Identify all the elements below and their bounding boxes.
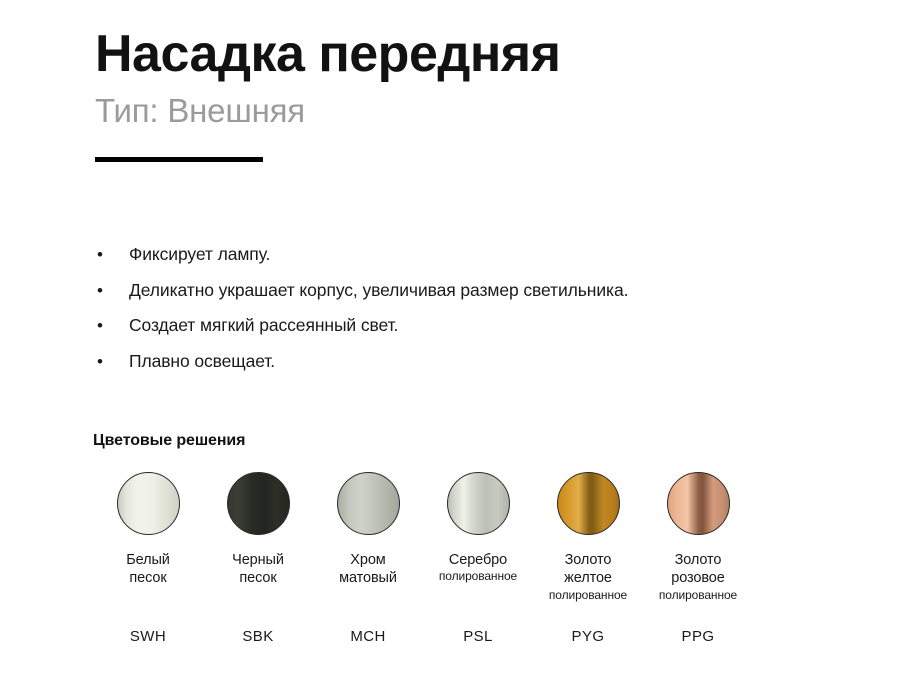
title-divider xyxy=(95,157,263,162)
feature-list: •Фиксирует лампу.•Деликатно украшает кор… xyxy=(95,243,865,386)
swatch-label-line3: полированное xyxy=(439,569,517,584)
swatch-disc[interactable] xyxy=(667,472,730,535)
swatch-label-line2: песок xyxy=(239,570,276,586)
bullet-icon: • xyxy=(95,350,129,375)
swatch-code: PYG xyxy=(533,628,643,645)
swatch-label: Сереброполированное xyxy=(439,551,517,584)
feature-text: Плавно освещает. xyxy=(129,350,275,374)
swatch-code: PPG xyxy=(643,628,753,645)
swatch-code: SBK xyxy=(203,628,313,645)
feature-text: Фиксирует лампу. xyxy=(129,243,270,267)
swatch-label-line1: Серебро xyxy=(449,552,507,568)
colors-section: Цветовые решения БелыйпесокЧерныйпесокХр… xyxy=(93,432,853,603)
swatch-label-line1: Белый xyxy=(126,552,170,568)
swatch-label-line2: песок xyxy=(129,570,166,586)
swatch-label-line1: Золото xyxy=(565,552,612,568)
swatch-label: Золотожелтоеполированное xyxy=(549,551,627,603)
color-swatch-mch[interactable]: Хромматовый xyxy=(313,472,423,588)
swatch-label: Белыйпесок xyxy=(126,551,170,588)
feature-text: Деликатно украшает корпус, увеличивая ра… xyxy=(129,279,628,303)
swatch-label-line2: розовое xyxy=(671,570,724,586)
colors-heading: Цветовые решения xyxy=(93,432,853,450)
page-title: Насадка передняя xyxy=(95,26,855,82)
color-swatch-ppg[interactable]: Золоторозовоеполированное xyxy=(643,472,753,603)
swatch-code: PSL xyxy=(423,628,533,645)
bullet-icon: • xyxy=(95,243,129,268)
swatch-label: Золоторозовоеполированное xyxy=(659,551,737,603)
list-item: •Деликатно украшает корпус, увеличивая р… xyxy=(95,279,865,304)
color-swatch-psl[interactable]: Сереброполированное xyxy=(423,472,533,584)
swatch-label-line2: желтое xyxy=(564,570,612,586)
swatch-label-line2: матовый xyxy=(339,570,397,586)
swatch-label-line1: Золото xyxy=(675,552,722,568)
swatch-label-line1: Черный xyxy=(232,552,284,568)
list-item: •Плавно освещает. xyxy=(95,350,865,375)
swatch-label-line1: Хром xyxy=(350,552,385,568)
swatch-code: SWH xyxy=(93,628,203,645)
swatch-disc[interactable] xyxy=(337,472,400,535)
swatch-row: БелыйпесокЧерныйпесокХромматовыйСереброп… xyxy=(93,472,853,603)
feature-text: Создает мягкий рассеянный свет. xyxy=(129,314,398,338)
swatch-disc[interactable] xyxy=(117,472,180,535)
color-swatch-pyg[interactable]: Золотожелтоеполированное xyxy=(533,472,643,603)
list-item: •Создает мягкий рассеянный свет. xyxy=(95,314,865,339)
swatch-code: MCH xyxy=(313,628,423,645)
swatch-disc[interactable] xyxy=(227,472,290,535)
bullet-icon: • xyxy=(95,314,129,339)
swatch-label: Черныйпесок xyxy=(232,551,284,588)
product-spec-page: Насадка передняя Тип: Внешняя •Фиксирует… xyxy=(0,0,900,700)
swatch-label: Хромматовый xyxy=(339,551,397,588)
swatch-code-row: SWHSBKMCHPSLPYGPPG xyxy=(93,628,753,645)
color-swatch-swh[interactable]: Белыйпесок xyxy=(93,472,203,588)
list-item: •Фиксирует лампу. xyxy=(95,243,865,268)
swatch-label-line3: полированное xyxy=(549,588,627,603)
header: Насадка передняя Тип: Внешняя xyxy=(95,26,855,162)
swatch-disc[interactable] xyxy=(447,472,510,535)
bullet-icon: • xyxy=(95,279,129,304)
color-swatch-sbk[interactable]: Черныйпесок xyxy=(203,472,313,588)
page-subtitle: Тип: Внешняя xyxy=(95,93,855,129)
swatch-label-line3: полированное xyxy=(659,588,737,603)
swatch-disc[interactable] xyxy=(557,472,620,535)
